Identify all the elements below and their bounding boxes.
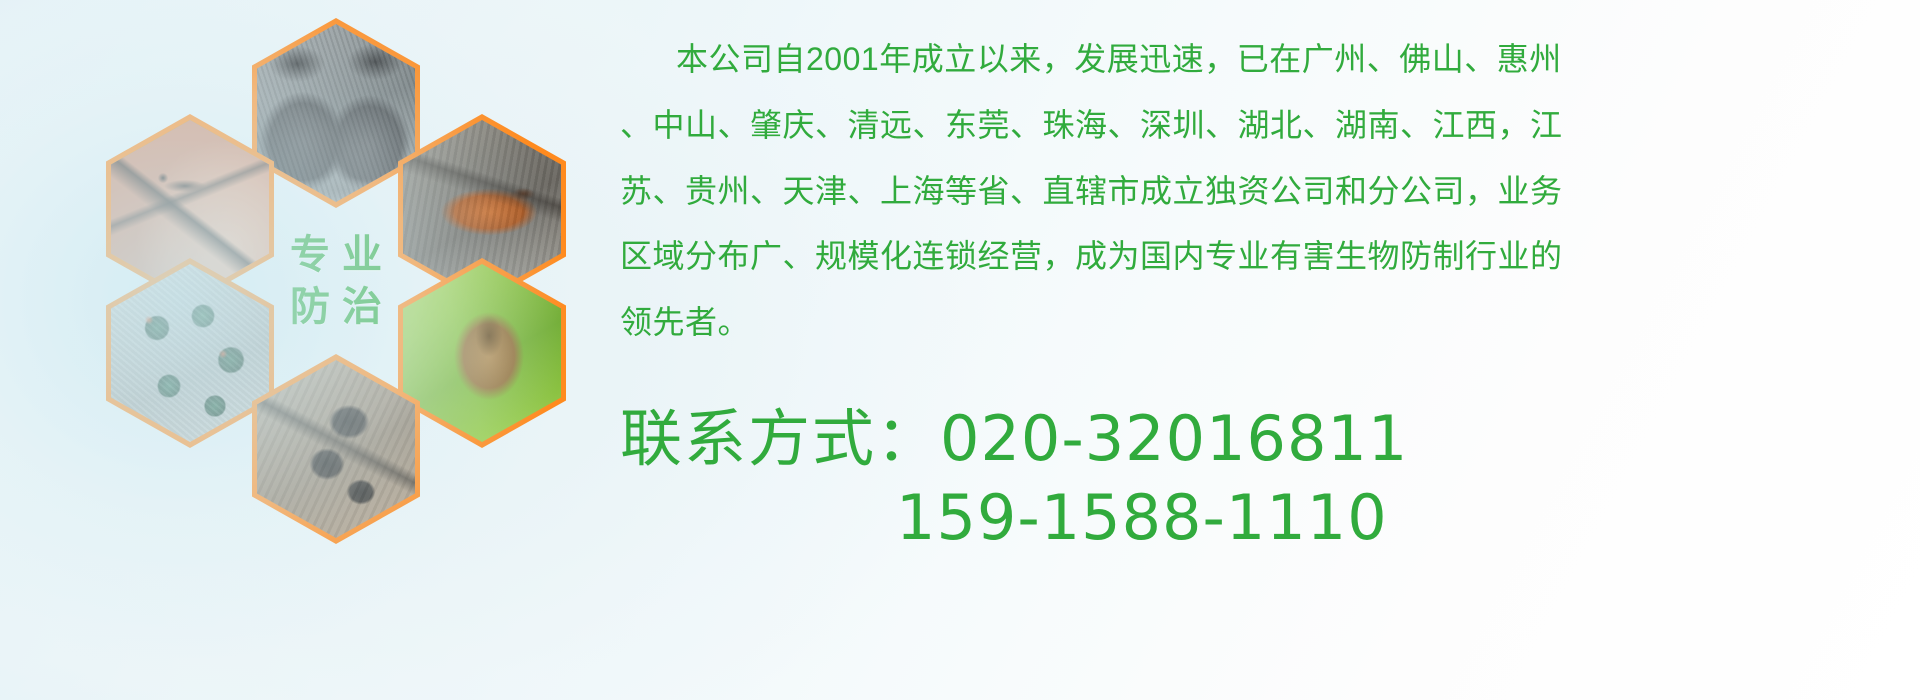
contact-phone-primary[interactable]: 020-32016811 (940, 402, 1408, 475)
contact-label: 联系方式： (620, 405, 940, 474)
intro-line-3: 苏、贵州、天津、上海等省、直辖市成立独资公司和分公司，业务 (620, 166, 1865, 218)
intro-line-2: 、中山、肇庆、清远、东莞、珠海、深圳、湖北、湖南、江西，江 (620, 100, 1865, 152)
intro-line-1: 本公司自2001年成立以来，发展迅速，已在广州、佛山、惠州 (620, 34, 1865, 86)
rat-icon (257, 24, 415, 202)
hex-photo-ants (252, 354, 420, 544)
hex-photo-stinkbug (398, 258, 566, 448)
intro-paragraph: 本公司自2001年成立以来，发展迅速，已在广州、佛山、惠州 、中山、肇庆、清远、… (620, 34, 1865, 363)
ant-icon (257, 360, 415, 538)
contact-block: 联系方式：020-32016811 159-1588-1110 (620, 400, 1865, 557)
hex-center-label: 专业 防治 (252, 186, 420, 376)
intro-line-4: 区域分布广、规模化连锁经营，成为国内专业有害生物防制行业的 (620, 231, 1865, 283)
contact-primary-line: 联系方式：020-32016811 (620, 400, 1865, 479)
hex-photo-flies (106, 258, 274, 448)
center-label-line1: 专业 (278, 234, 394, 276)
promo-banner: 专业 防治 本公司自2001年成立以来，发展迅速，已在广州、佛山、惠州 、中山、… (0, 0, 1920, 700)
hex-photo-rats (252, 18, 420, 208)
fly-icon (111, 264, 269, 442)
center-label-line2: 防治 (278, 286, 394, 328)
intro-line-5: 领先者。 (620, 297, 1865, 349)
bug-icon (403, 264, 561, 442)
contact-secondary-line: 159-1588-1110 (620, 479, 1865, 558)
hexagon-photo-cluster: 专业 防治 (88, 8, 588, 558)
contact-phone-secondary[interactable]: 159-1588-1110 (896, 481, 1388, 554)
